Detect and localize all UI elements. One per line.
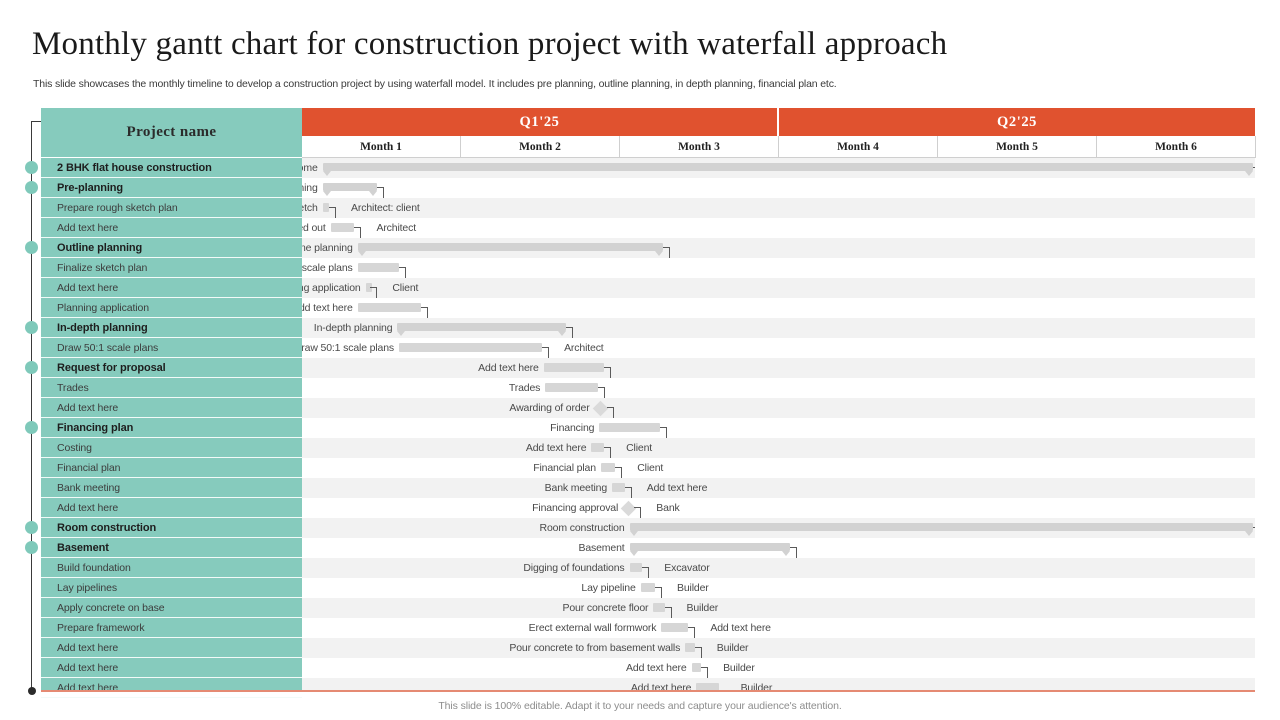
task-name-cell[interactable]: Prepare framework <box>41 618 302 638</box>
gantt-task-bar[interactable] <box>591 443 604 452</box>
gantt-task-bar[interactable] <box>692 663 702 672</box>
gantt-task-bar[interactable] <box>544 363 604 372</box>
spine-milestone-dot <box>25 541 38 554</box>
dependency-link <box>354 227 360 228</box>
dependency-link <box>634 507 640 508</box>
gantt-row-background <box>302 398 1255 418</box>
gantt-task-bar[interactable] <box>358 303 422 312</box>
task-name-cell[interactable]: Apply concrete on base <box>41 598 302 618</box>
task-name-cell[interactable]: Build foundation <box>41 558 302 578</box>
dependency-link <box>604 447 610 448</box>
gantt-task-label: Outline planning <box>302 238 353 258</box>
dependency-link <box>642 567 648 568</box>
gantt-resource-label: Architect <box>376 218 416 238</box>
task-name-cell[interactable]: Financing plan <box>41 418 302 438</box>
gantt-resource-label: Client <box>626 438 652 458</box>
month-header-1: Month 1 <box>302 136 461 158</box>
gantt-task-bar[interactable] <box>661 623 688 632</box>
gantt-resource-label: Add text here <box>647 478 708 498</box>
gantt-resource-label: Client <box>392 278 418 298</box>
task-name-cell[interactable]: In-depth planning <box>41 318 302 338</box>
gantt-row-background <box>302 478 1255 498</box>
dependency-link <box>566 327 572 328</box>
task-name-cell[interactable]: Lay pipelines <box>41 578 302 598</box>
spine-milestone-dot <box>25 521 38 534</box>
gantt-task-bar[interactable] <box>399 343 542 352</box>
gantt-row-background <box>302 258 1255 278</box>
gantt-task-bar[interactable] <box>653 603 664 612</box>
gantt-task-label: Add text here <box>526 438 587 458</box>
dependency-link <box>701 667 707 668</box>
dependency-link <box>665 607 671 608</box>
spine-milestone-dot <box>25 241 38 254</box>
dependency-link <box>607 407 613 408</box>
dependency-link <box>1253 167 1255 168</box>
gantt-task-label: Single family home <box>302 158 318 178</box>
dependency-link <box>377 187 383 188</box>
page-title: Monthly gantt chart for construction pro… <box>32 26 1252 63</box>
task-name-cell[interactable]: Add text here <box>41 398 302 418</box>
gantt-task-bar[interactable] <box>630 563 643 572</box>
task-name-cell[interactable]: Bank meeting <box>41 478 302 498</box>
gantt-summary-bar[interactable] <box>630 523 1253 531</box>
gantt-row-background <box>302 418 1255 438</box>
gantt-row-background <box>302 638 1255 658</box>
gantt-summary-bar[interactable] <box>630 543 791 551</box>
task-name-cell[interactable]: Add text here <box>41 638 302 658</box>
gantt-row-background <box>302 358 1255 378</box>
gantt-task-label: Planning application <box>302 278 361 298</box>
gantt-task-bar[interactable] <box>641 583 655 592</box>
footer-divider <box>41 690 1255 692</box>
gantt-task-label: Add text here <box>302 298 353 318</box>
dependency-link <box>695 647 701 648</box>
gantt-row-background <box>302 658 1255 678</box>
gantt-task-label: Erect external wall formwork <box>529 618 657 638</box>
page-subtitle: This slide showcases the monthly timelin… <box>33 78 1248 90</box>
gantt-row-background <box>302 218 1255 238</box>
gantt-timeline: Single family homePre-planningHand-drawn… <box>302 158 1255 691</box>
spine-line <box>31 121 32 691</box>
dependency-link <box>625 487 631 488</box>
gantt-task-label: Pour concrete floor <box>563 598 649 618</box>
task-name-cell[interactable]: Draw 50:1 scale plans <box>41 338 302 358</box>
gantt-task-label: Financial plan <box>533 458 596 478</box>
gantt-summary-bar[interactable] <box>397 323 566 331</box>
task-name-cell[interactable]: Outline planning <box>41 238 302 258</box>
task-name-cell[interactable]: Room construction <box>41 518 302 538</box>
gantt-resource-label: Add text here <box>710 618 771 638</box>
gantt-row-background <box>302 438 1255 458</box>
dependency-link <box>663 247 669 248</box>
gantt-resource-label: Architect <box>564 338 604 358</box>
gantt-task-label: Add text here <box>626 658 687 678</box>
gantt-summary-bar[interactable] <box>323 163 1253 171</box>
gantt-resource-label: Builder <box>687 598 719 618</box>
dependency-link <box>790 547 796 548</box>
gantt-task-label: Basement <box>578 538 624 558</box>
month-header-3: Month 3 <box>620 136 779 158</box>
task-name-cell[interactable]: Pre-planning <box>41 178 302 198</box>
gantt-task-label: Pre-planning <box>302 178 318 198</box>
dependency-link <box>399 267 405 268</box>
gantt-row-background <box>302 578 1255 598</box>
dependency-link <box>688 627 694 628</box>
month-header-5: Month 5 <box>938 136 1097 158</box>
month-header-4: Month 4 <box>779 136 938 158</box>
task-name-cell[interactable]: 2 BHK flat house construction <box>41 158 302 178</box>
gantt-row-background <box>302 618 1255 638</box>
dependency-link <box>655 587 661 588</box>
table-header: Project name Q1'25 Q2'25 Month 1Month 2M… <box>41 108 1255 158</box>
footer-note: This slide is 100% editable. Adapt it to… <box>0 700 1280 712</box>
gantt-summary-bar[interactable] <box>358 243 663 251</box>
dependency-link <box>370 287 376 288</box>
gantt-task-label: Draw 100:1 scale plans <box>302 258 353 278</box>
gantt-task-label: Draw 50:1 scale plans <box>302 338 394 358</box>
dependency-link <box>329 207 335 208</box>
gantt-resource-label: Builder <box>717 638 749 658</box>
spine-milestone-dot <box>25 181 38 194</box>
gantt-task-label: Bank meeting <box>545 478 607 498</box>
quarter-header-q2: Q2'25 <box>779 108 1255 136</box>
dependency-link <box>598 387 604 388</box>
quarter-header-q1: Q1'25 <box>302 108 779 136</box>
task-name-cell[interactable]: Prepare rough sketch plan <box>41 198 302 218</box>
gantt-task-label: Room construction <box>540 518 625 538</box>
gantt-task-label: Digging of foundations <box>523 558 624 578</box>
gantt-row-background <box>302 558 1255 578</box>
gantt-resource-label: Builder <box>677 578 709 598</box>
gantt-task-label: Hand-drawn sketch <box>302 198 318 218</box>
spine-milestone-dot <box>25 321 38 334</box>
task-name-cell[interactable]: Add text here <box>41 658 302 678</box>
task-name-cell[interactable]: Costing <box>41 438 302 458</box>
gantt-row-background <box>302 598 1255 618</box>
gantt-row-background <box>302 278 1255 298</box>
gantt-row-background <box>302 298 1255 318</box>
gantt-resource-label: Builder <box>723 658 755 678</box>
gantt-task-label: Awarding of order <box>509 398 589 418</box>
gantt-task-bar[interactable] <box>331 223 355 232</box>
gantt-table: Project name Q1'25 Q2'25 Month 1Month 2M… <box>41 108 1255 691</box>
gantt-task-bar[interactable] <box>601 463 615 472</box>
gantt-task-label: Trades <box>509 378 540 398</box>
gantt-row-background <box>302 198 1255 218</box>
slide-root: Monthly gantt chart for construction pro… <box>0 0 1280 720</box>
gantt-row-background <box>302 378 1255 398</box>
gantt-task-label: First proposal worked out <box>302 218 326 238</box>
dependency-link <box>1253 527 1255 528</box>
gantt-task-bar[interactable] <box>545 383 597 392</box>
dependency-link <box>421 307 427 308</box>
gantt-task-bar[interactable] <box>599 423 659 432</box>
gantt-task-bar[interactable] <box>358 263 399 272</box>
dependency-link <box>542 347 548 348</box>
gantt-task-bar[interactable] <box>612 483 625 492</box>
task-name-cell[interactable]: Add text here <box>41 678 302 698</box>
spine-end-dot <box>28 687 36 695</box>
gantt-task-label: Lay pipeline <box>581 578 635 598</box>
gantt-row-background <box>302 178 1255 198</box>
task-name-cell[interactable]: Basement <box>41 538 302 558</box>
task-name-cell[interactable]: Finalize sketch plan <box>41 258 302 278</box>
project-name-header: Project name <box>41 108 302 158</box>
dependency-link <box>615 467 621 468</box>
gantt-resource-label: Architect: client <box>351 198 420 218</box>
gantt-row-background <box>302 498 1255 518</box>
project-name-column: 2 BHK flat house constructionPre-plannin… <box>41 158 302 691</box>
gantt-resource-label: Bank <box>656 498 679 518</box>
task-name-cell[interactable]: Request for proposal <box>41 358 302 378</box>
spine-milestone-dot <box>25 361 38 374</box>
gantt-row-background <box>302 458 1255 478</box>
gantt-task-bar[interactable] <box>685 643 695 652</box>
task-name-cell[interactable]: Planning application <box>41 298 302 318</box>
task-name-cell[interactable]: Add text here <box>41 498 302 518</box>
gantt-task-label: Add text here <box>478 358 539 378</box>
spine-milestone-dot <box>25 161 38 174</box>
task-name-cell[interactable]: Financial plan <box>41 458 302 478</box>
task-name-cell[interactable]: Add text here <box>41 218 302 238</box>
gantt-resource-label: Excavator <box>664 558 709 578</box>
month-header-6: Month 6 <box>1097 136 1256 158</box>
table-body: 2 BHK flat house constructionPre-plannin… <box>41 158 1255 691</box>
dependency-link <box>660 427 666 428</box>
gantt-resource-label: Client <box>637 458 663 478</box>
gantt-task-label: In-depth planning <box>314 318 393 338</box>
task-name-cell[interactable]: Add text here <box>41 278 302 298</box>
task-name-cell[interactable]: Trades <box>41 378 302 398</box>
dependency-link <box>604 367 610 368</box>
month-header-2: Month 2 <box>461 136 620 158</box>
spine-milestone-dot <box>25 421 38 434</box>
gantt-task-label: Financing approval <box>532 498 618 518</box>
gantt-summary-bar[interactable] <box>323 183 377 191</box>
gantt-task-label: Pour concrete to from basement walls <box>509 638 680 658</box>
gantt-task-label: Financing <box>550 418 594 438</box>
